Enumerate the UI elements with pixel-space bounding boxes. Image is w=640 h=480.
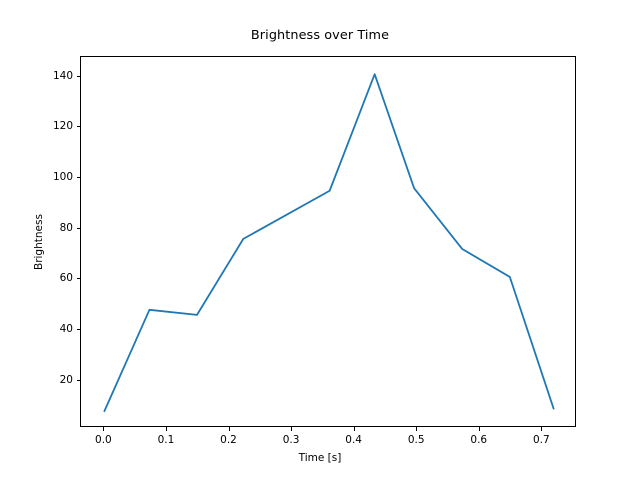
chart-title: Brightness over Time	[0, 28, 640, 43]
line-plot-svg	[81, 57, 577, 428]
y-tick-label: 80	[60, 222, 73, 234]
matplotlib-figure: Brightness over Time Brightness Time [s]…	[0, 0, 640, 480]
x-tick-label: 0.7	[533, 434, 550, 446]
y-tick-label: 100	[53, 171, 73, 183]
x-tick-label: 0.3	[283, 434, 300, 446]
x-tick-label: 0.5	[408, 434, 425, 446]
y-tick-label: 60	[60, 272, 73, 284]
plot-area	[80, 56, 576, 427]
x-tick-label: 0.6	[470, 434, 487, 446]
brightness-series-line	[104, 74, 553, 411]
y-axis-label: Brightness	[33, 214, 45, 270]
x-tick-label: 0.2	[220, 434, 237, 446]
y-tick-label: 40	[60, 323, 73, 335]
x-tick-label: 0.1	[158, 434, 175, 446]
x-tick-label: 0.0	[95, 434, 112, 446]
y-tick-label: 20	[60, 374, 73, 386]
y-tick-label: 120	[53, 120, 73, 132]
y-tick-label: 140	[53, 70, 73, 82]
x-tick-label: 0.4	[345, 434, 362, 446]
x-axis-label: Time [s]	[0, 452, 640, 464]
